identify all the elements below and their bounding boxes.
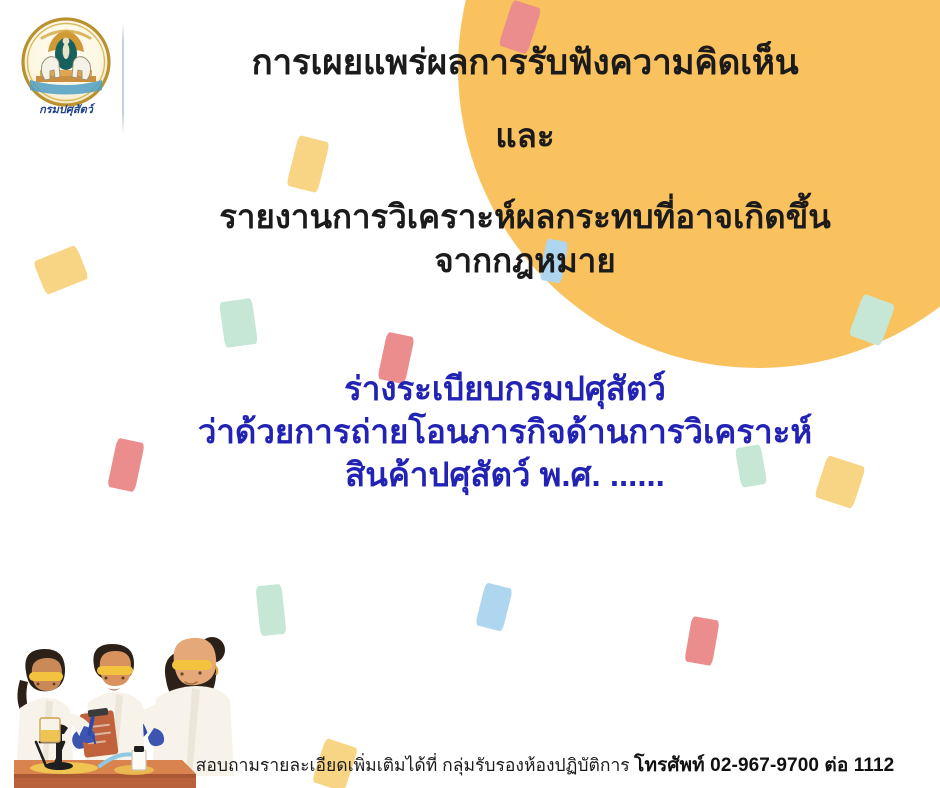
headline-line-2: รายงานการวิเคราะห์ผลกระทบที่อาจเกิดขึ้น	[130, 196, 920, 238]
confetti-yellow-left	[33, 245, 89, 296]
poster-canvas: กรมปศุสัตว์ การเผยแพร่ผลการรับฟังความคิด…	[0, 0, 940, 788]
logo-caption: กรมปศุสัตว์	[12, 100, 120, 118]
subject-block: ร่างระเบียบกรมปศุสัตว์ ว่าด้วยการถ่ายโอน…	[110, 368, 900, 497]
footer-contact: สอบถามรายละเอียดเพิ่มเติมได้ที่ กลุ่มรับ…	[0, 750, 940, 780]
scientist-middle	[72, 644, 164, 762]
confetti-pink-bottom-right	[684, 616, 720, 666]
subject-line-3: สินค้าปศุสัตว์ พ.ศ. ......	[110, 454, 900, 497]
footer-contact-text: สอบถามรายละเอียดเพิ่มเติมได้ที่ กลุ่มรับ…	[196, 755, 630, 775]
department-logo: กรมปศุสัตว์	[12, 14, 120, 126]
subject-line-2: ว่าด้วยการถ่ายโอนภารกิจด้านการวิเคราะห์	[110, 411, 900, 454]
logo-divider	[122, 22, 124, 134]
footer-phone-text: โทรศัพท์ 02-967-9700 ต่อ 1112	[634, 755, 894, 776]
confetti-mint-mid-left	[219, 298, 258, 348]
headline-block: การเผยแพร่ผลการรับฟังความคิดเห็น และ ราย…	[130, 44, 920, 282]
headline-conjunction: และ	[130, 119, 920, 154]
headline-line-3: จากกฎหมาย	[130, 240, 920, 282]
confetti-blue-lower-right	[475, 582, 513, 631]
headline-line-1: การเผยแพร่ผลการรับฟังความคิดเห็น	[130, 44, 920, 81]
subject-line-1: ร่างระเบียบกรมปศุสัตว์	[110, 368, 900, 411]
